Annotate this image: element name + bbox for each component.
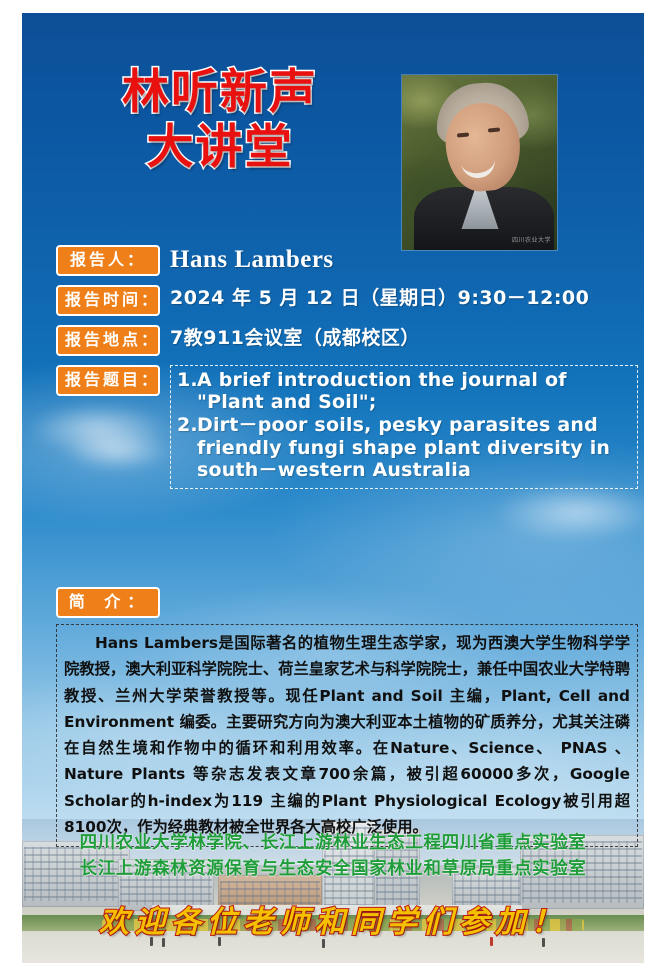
page-title: 林听新声 大讲堂 [70,65,370,176]
organizer-text: 四川农业大学林学院、长江上游林业生态工程四川省重点实验室 长江上游森林资源保育与… [22,831,644,883]
topic-text: Dirt－poor soils, pesky parasites and fri… [197,414,610,480]
info-row-topic: 报告题目： 1.A brief introduction the journal… [56,365,638,489]
bio-box: Hans Lambers是国际著名的植物生理生态学家，现为西澳大学生物科学学院教… [56,624,638,847]
topic-number: 2. [177,414,197,436]
topic-list: 1.A brief introduction the journal of "P… [177,369,631,481]
value-place: 7教911会议室（成都校区） [170,325,420,350]
title-line-2: 大讲堂 [70,120,370,175]
label-speaker: 报告人： [56,245,160,276]
info-row-speaker: 报告人： Hans Lambers [56,245,638,276]
topic-text: A brief introduction the journal of "Pla… [197,369,567,413]
bio-paragraph: Hans Lambers是国际著名的植物生理生态学家，现为西澳大学生物科学学院教… [64,630,630,840]
label-topic: 报告题目： [56,365,160,396]
poster-canvas: 林听新声 大讲堂 四川农业大学 报告人： Hans Lambers 报告时间： … [22,13,644,963]
info-row-time: 报告时间： 2024 年 5 月 12 日（星期日）9:30－12:00 [56,285,638,316]
topic-number: 1. [177,369,197,391]
label-time: 报告时间： [56,285,160,316]
info-block: 报告人： Hans Lambers 报告时间： 2024 年 5 月 12 日（… [56,245,638,498]
bio-label-row: 简 介： [56,587,638,618]
speaker-portrait: 四川农业大学 [402,75,557,250]
organizer-line-2: 长江上游森林资源保育与生态安全国家林业和草原局重点实验室 [22,857,644,883]
welcome-message: 欢迎各位老师和同学们参加！ [22,897,644,941]
title-line-1: 林听新声 [122,65,318,120]
poster-header: 林听新声 大讲堂 四川农业大学 [22,13,644,243]
portrait-watermark: 四川农业大学 [512,235,551,244]
value-speaker: Hans Lambers [170,245,334,273]
organizer-line-1: 四川农业大学林学院、长江上游林业生态工程四川省重点实验室 [22,831,644,857]
topic-box: 1.A brief introduction the journal of "P… [170,365,638,489]
info-row-place: 报告地点： 7教911会议室（成都校区） [56,325,638,356]
label-place: 报告地点： [56,325,160,356]
topic-item: 1.A brief introduction the journal of "P… [177,369,631,413]
label-bio: 简 介： [56,587,160,618]
bio-block: 简 介： Hans Lambers是国际著名的植物生理生态学家，现为西澳大学生物… [56,587,638,847]
topic-item: 2.Dirt－poor soils, pesky parasites and f… [177,414,631,481]
value-time: 2024 年 5 月 12 日（星期日）9:30－12:00 [170,285,589,310]
